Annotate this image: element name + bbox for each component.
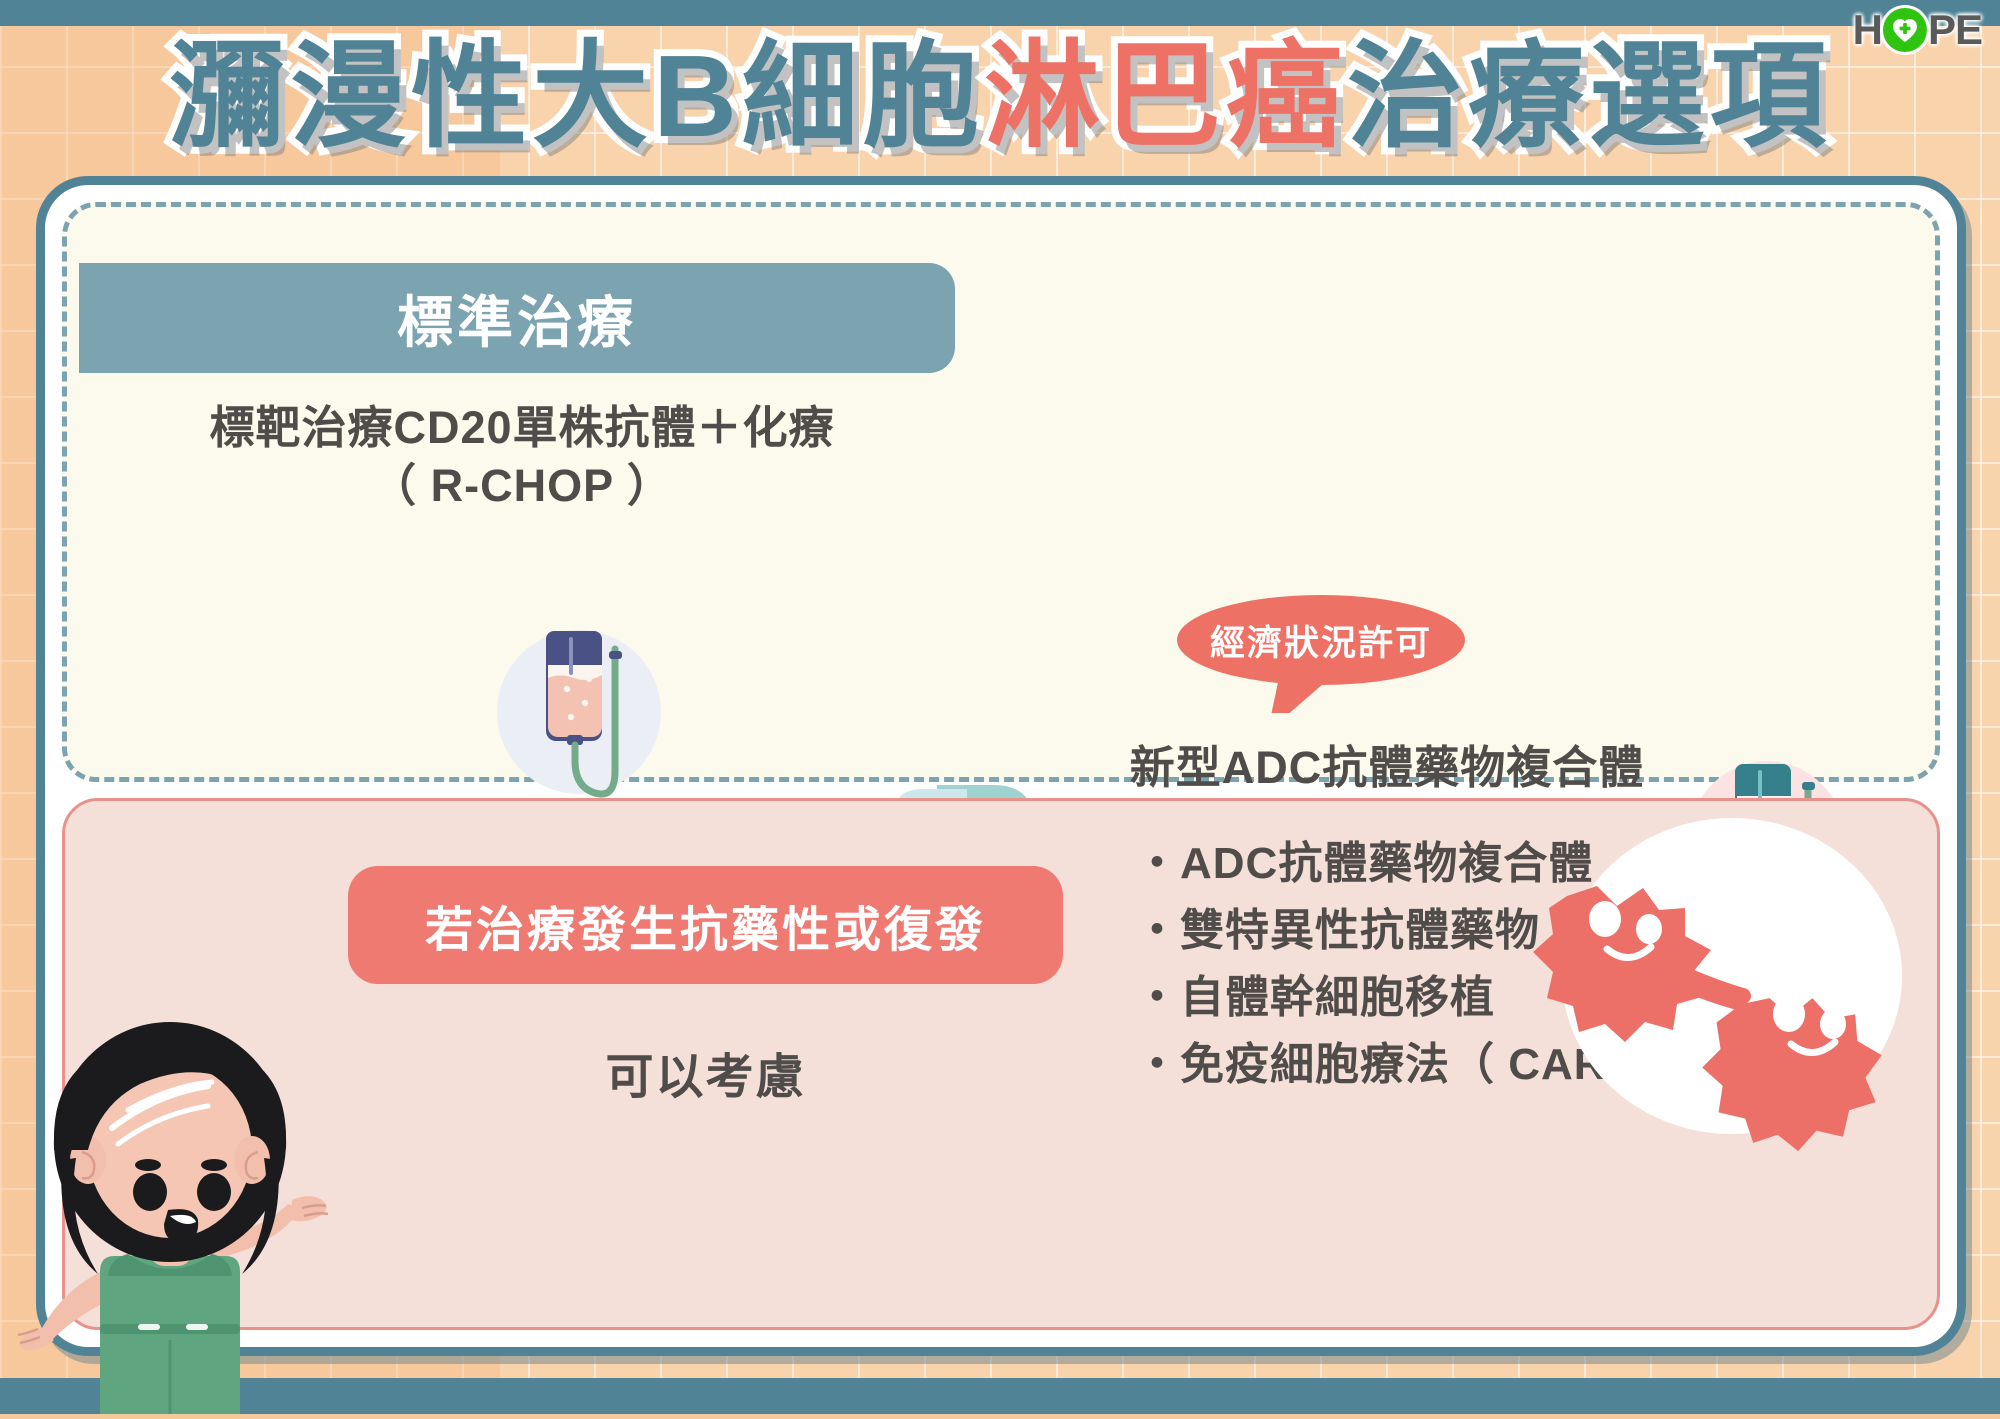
standard-treatment-header: 標準治療 — [79, 263, 955, 373]
adc-line: 新型ADC抗體藥物複合體 — [1027, 739, 1747, 798]
relapse-pill: 若治療發生抗藥性或復發 — [348, 866, 1063, 984]
standard-regimen-abbrev: （ R-CHOP ） — [122, 457, 922, 516]
heart-cross-icon — [1883, 8, 1927, 52]
nurse-character-icon — [10, 1010, 330, 1414]
economic-condition-bubble: 經濟狀況許可 — [1177, 595, 1465, 685]
cancer-cells-icon — [1507, 811, 1927, 1161]
title-part-3: 治療選項 — [1347, 31, 1831, 161]
standard-regimen-line: 標靶治療CD20單株抗體＋化療 — [122, 399, 922, 458]
relapse-pill-label: 若治療發生抗藥性或復發 — [425, 890, 986, 960]
standard-treatment-title: 標準治療 — [397, 278, 637, 359]
page-title: 瀰漫性大B細胞淋巴癌治療選項 — [0, 36, 2000, 158]
relapse-panel: 若治療發生抗藥性或復發 可以考慮 ADC抗體藥物複合體 雙特異性抗體藥物 自體幹… — [62, 798, 1940, 1330]
top-strip — [0, 0, 2000, 26]
logo-letters-pe: PE — [1928, 9, 1982, 51]
title-part-2: 淋巴癌 — [984, 31, 1347, 161]
iv-drip-icon — [479, 617, 679, 817]
title-part-1: 瀰漫性大B細胞 — [169, 31, 984, 161]
consider-label: 可以考慮 — [348, 1037, 1063, 1107]
hope-logo: H PE — [1853, 8, 1982, 52]
logo-letter-h: H — [1853, 9, 1882, 51]
standard-treatment-panel: 標準治療 標靶治療CD20單株抗體＋化療 （ R-CHOP ） — [62, 202, 1940, 782]
economic-condition-label: 經濟狀況許可 — [1210, 615, 1432, 666]
